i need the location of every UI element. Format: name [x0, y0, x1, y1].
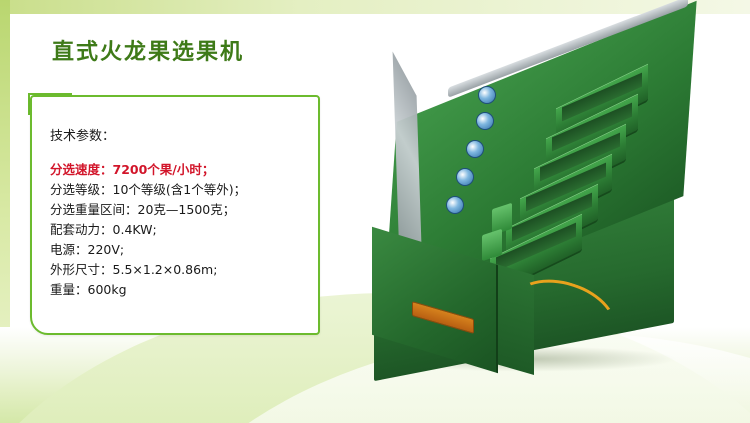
spec-value: 220V;	[88, 242, 125, 257]
spec-value: 600kg	[88, 282, 127, 297]
spec-value: 5.5×1.2×0.86m;	[113, 262, 218, 277]
spec-row: 配套动力：0.4KW;	[50, 220, 302, 240]
slide-canvas: 直式火龙果选果机 技术参数： 分选速度：7200个果/小时； 分选等级：10个等…	[0, 0, 750, 423]
roller-wheel	[478, 86, 496, 104]
spec-card: 技术参数： 分选速度：7200个果/小时； 分选等级：10个等级(含1个等外)；…	[30, 95, 320, 335]
spec-label: 外形尺寸：	[50, 262, 113, 277]
spec-row: 分选速度：7200个果/小时；	[50, 160, 302, 180]
roller-wheel	[466, 140, 484, 158]
roller-wheel	[446, 196, 464, 214]
spec-value: 0.4KW;	[113, 222, 157, 237]
spec-value: 7200个果/小时；	[113, 162, 215, 177]
product-photo	[360, 24, 740, 374]
spec-label: 分选等级：	[50, 182, 113, 197]
spec-heading: 技术参数：	[50, 125, 302, 144]
spec-row: 电源：220V;	[50, 240, 302, 260]
page-title: 直式火龙果选果机	[52, 34, 244, 66]
spec-list: 分选速度：7200个果/小时； 分选等级：10个等级(含1个等外)； 分选重量区…	[50, 160, 302, 300]
spec-value: 20克—1500克；	[138, 202, 236, 217]
decorative-top-band	[0, 0, 750, 14]
spec-value: 10个等级(含1个等外)；	[113, 182, 247, 197]
spec-label: 重量：	[50, 282, 88, 297]
roller-wheel	[476, 112, 494, 130]
spec-label: 电源：	[50, 242, 88, 257]
spec-row: 重量：600kg	[50, 280, 302, 300]
spec-card-body: 技术参数： 分选速度：7200个果/小时； 分选等级：10个等级(含1个等外)；…	[32, 97, 318, 333]
spec-row: 分选重量区间：20克—1500克；	[50, 200, 302, 220]
spec-label: 分选速度：	[50, 162, 113, 177]
spec-row: 外形尺寸：5.5×1.2×0.86m;	[50, 260, 302, 280]
spec-row: 分选等级：10个等级(含1个等外)；	[50, 180, 302, 200]
roller-wheel	[456, 168, 474, 186]
spec-label: 配套动力：	[50, 222, 113, 237]
spec-label: 分选重量区间：	[50, 202, 138, 217]
